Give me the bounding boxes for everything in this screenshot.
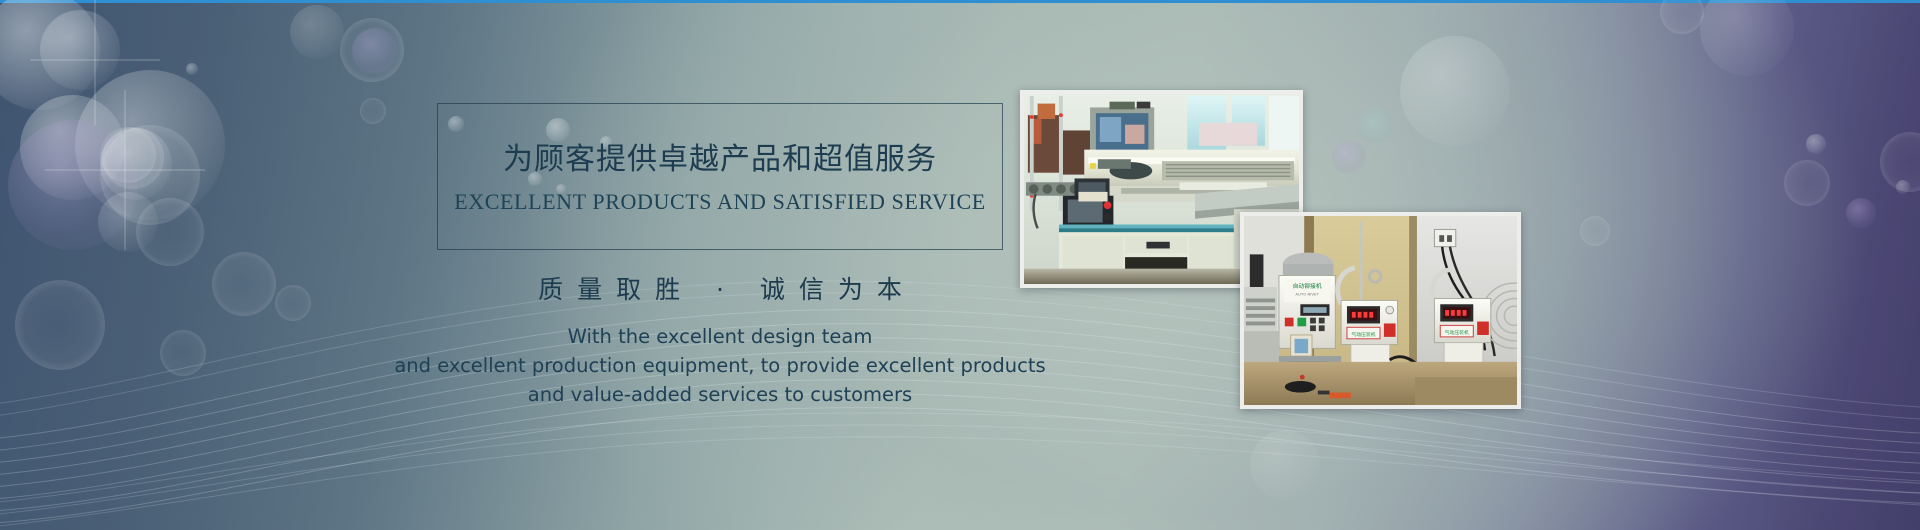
bokeh-circle xyxy=(1250,430,1320,500)
bokeh-circle xyxy=(160,330,206,376)
bokeh-circle xyxy=(98,192,158,252)
bokeh-sparkle xyxy=(45,90,205,250)
svg-text:气动压装机: 气动压装机 xyxy=(1351,331,1375,338)
bokeh-circle xyxy=(1896,180,1910,194)
top-accent-line xyxy=(0,0,1920,3)
svg-text:AUTO RIVET: AUTO RIVET xyxy=(1295,292,1319,297)
bokeh-circle xyxy=(0,0,100,110)
bokeh-circle xyxy=(352,28,398,74)
bokeh-circle xyxy=(212,252,276,316)
svg-text:气动压装机: 气动压装机 xyxy=(1445,329,1469,336)
bokeh-circle xyxy=(1700,0,1794,76)
bokeh-circle xyxy=(20,95,125,200)
bokeh-circle xyxy=(1846,198,1876,228)
bokeh-circle xyxy=(275,285,311,321)
factory-press-machines-image: 自动铆接机 AUTO RIVET 气动压装机 xyxy=(1244,216,1517,405)
bokeh-sparkle xyxy=(30,0,160,125)
bokeh-circle xyxy=(340,18,404,82)
bokeh-circle xyxy=(100,125,200,225)
bokeh-circle xyxy=(75,70,225,220)
promo-banner: 为顾客提供卓越产品和超值服务 EXCELLENT PRODUCTS AND SA… xyxy=(0,0,1920,530)
bokeh-sparkle-dot xyxy=(186,63,198,75)
bokeh-circle xyxy=(1332,140,1366,174)
bokeh-circle xyxy=(100,128,172,200)
bokeh-circle xyxy=(1580,216,1610,246)
factory-press-machines-photo: 自动铆接机 AUTO RIVET 气动压装机 xyxy=(1240,212,1521,409)
description-line-2: and excellent production equipment, to p… xyxy=(320,351,1120,380)
bokeh-circle xyxy=(8,120,138,250)
bokeh-circle xyxy=(102,127,164,189)
bokeh-circle xyxy=(1806,134,1826,154)
description-line-1: With the excellent design team xyxy=(320,322,1120,351)
subheadline-english: EXCELLENT PRODUCTS AND SATISFIED SERVICE xyxy=(437,189,1003,215)
bokeh-circle xyxy=(360,98,386,124)
slogan-chinese: 质量取胜 · 诚信为本 xyxy=(420,270,1020,306)
bokeh-circle xyxy=(1358,108,1394,144)
headline-chinese: 为顾客提供卓越产品和超值服务 xyxy=(437,134,1003,178)
bokeh-circle xyxy=(1400,36,1510,146)
bokeh-circle xyxy=(290,5,344,59)
bokeh-circle xyxy=(136,198,204,266)
svg-text:自动铆接机: 自动铆接机 xyxy=(1293,282,1322,290)
description-line-3: and value-added services to customers xyxy=(320,380,1120,409)
bokeh-circle xyxy=(100,127,156,183)
bokeh-circle xyxy=(1880,132,1920,192)
description-paragraph: With the excellent design team and excel… xyxy=(320,322,1120,409)
bokeh-circle xyxy=(1660,0,1704,34)
bokeh-circle xyxy=(15,280,105,370)
bokeh-circle xyxy=(40,10,120,90)
bokeh-circle xyxy=(1784,160,1830,206)
background-grain-texture xyxy=(0,0,1920,530)
